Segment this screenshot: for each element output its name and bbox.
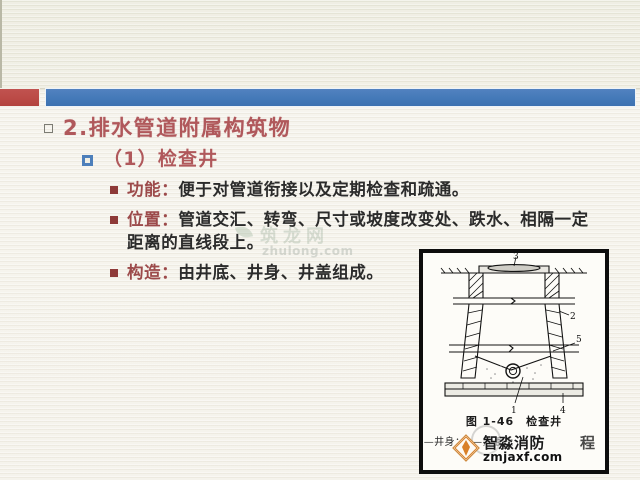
figure-caption: 图 1-46 检查井 <box>423 413 605 429</box>
outline-level3-separator: ： <box>161 263 178 282</box>
outline-level3-body: 位置：管道交汇、转弯、尺寸或坡度改变处、跌水、相隔一定距离的直线段上。 <box>127 208 597 254</box>
brand-watermark: 智淼消防 zmjaxf.com 程 <box>452 432 592 468</box>
manhole-cross-section-svg: 3 2 5 1 4 <box>423 253 605 418</box>
outline-level3-body: 构造：由井底、井身、井盖组成。 <box>127 261 384 284</box>
red-square-bullet-icon <box>110 216 118 224</box>
outline-level3-text: 管道交汇、转弯、尺寸或坡度改变处、跌水、相隔一定距离的直线段上。 <box>127 210 589 252</box>
outline-level3-text: 由井底、井身、井盖组成。 <box>178 263 383 282</box>
slide-canvas: 2.排水管道附属构筑物 （1）检查井 功能：便于对管道衔接以及定期检查和疏通。 … <box>0 0 640 480</box>
blue-square-bullet-icon <box>82 155 93 166</box>
outline-level3-separator: ： <box>161 180 178 199</box>
banner-red-block <box>0 88 40 107</box>
outline-level3-body: 功能：便于对管道衔接以及定期检查和疏通。 <box>127 178 469 201</box>
outline-level3-key: 功能 <box>127 180 161 199</box>
figure-callout-3: 3 <box>513 253 519 262</box>
diamond-logo-icon <box>452 434 480 462</box>
hollow-square-bullet-icon <box>44 124 53 133</box>
red-square-bullet-icon <box>110 269 118 277</box>
red-square-bullet-icon <box>110 186 118 194</box>
slide-left-edge <box>0 0 2 88</box>
outline-level2-label: （1）检查井 <box>103 147 218 172</box>
outline-level1-item: 2.排水管道附属构筑物 <box>44 115 640 142</box>
brand-watermark-en: zmjaxf.com <box>483 450 562 464</box>
outline-level1-label: 2.排水管道附属构筑物 <box>63 115 291 142</box>
outline-level3-key: 位置 <box>127 210 161 229</box>
outline-level3-item: 功能：便于对管道衔接以及定期检查和疏通。 <box>110 178 640 201</box>
slide-top-band <box>0 0 640 89</box>
outline-level3-key: 构造 <box>127 263 161 282</box>
brand-watermark-tail: 程 <box>580 432 595 453</box>
figure-callout-2: 2 <box>570 312 576 322</box>
outline-level3-text: 便于对管道衔接以及定期检查和疏通。 <box>178 180 469 199</box>
outline-level3-item: 位置：管道交汇、转弯、尺寸或坡度改变处、跌水、相隔一定距离的直线段上。 <box>110 208 640 254</box>
outline-level3-separator: ： <box>161 210 178 229</box>
figure-callout-5: 5 <box>576 335 582 345</box>
outline-level2-item: （1）检查井 <box>82 147 640 172</box>
banner-blue-bar <box>45 88 636 107</box>
